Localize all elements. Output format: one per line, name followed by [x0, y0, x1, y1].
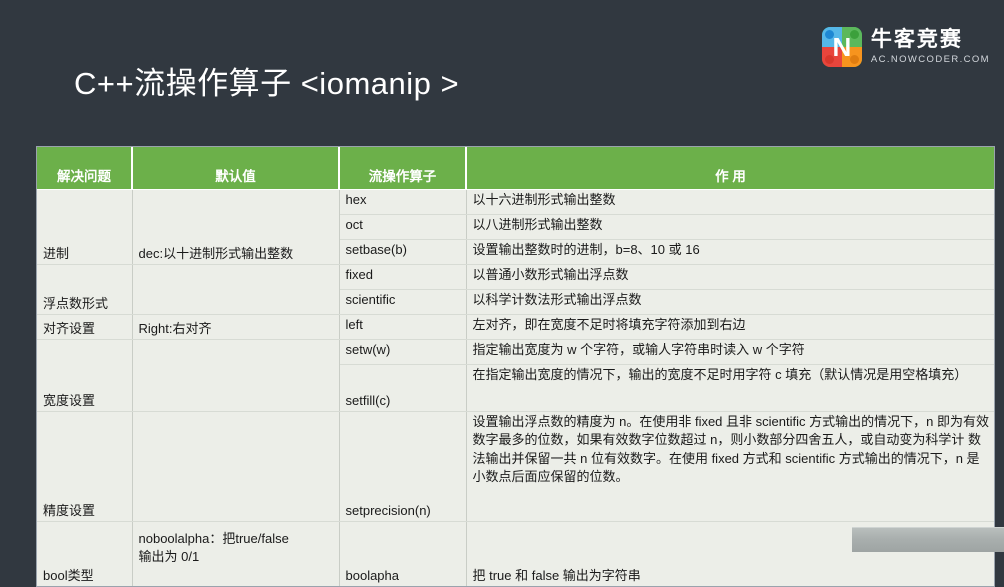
cell-problem: 对齐设置	[37, 315, 132, 340]
brand-url: AC.NOWCODER.COM	[871, 54, 990, 65]
manipulator-table: 解决问题 默认值 流操作算子 作 用 进制 dec:以十进制形式输出整数 hex…	[37, 147, 994, 586]
cell-operator: setw(w)	[339, 340, 466, 365]
cell-effect: 左对齐，即在宽度不足时将填充字符添加到右边	[466, 315, 994, 340]
table-row: 对齐设置 Right:右对齐 left 左对齐，即在宽度不足时将填充字符添加到右…	[37, 315, 994, 340]
page-title: C++流操作算子 <iomanip >	[74, 58, 459, 103]
cell-default	[132, 412, 339, 522]
cell-operator: hex	[339, 190, 466, 215]
brand-name: 牛客竞赛	[871, 29, 990, 51]
cell-default	[132, 340, 339, 412]
cell-operator: fixed	[339, 265, 466, 290]
table-header-row: 解决问题 默认值 流操作算子 作 用	[37, 147, 994, 190]
table-row: 浮点数形式 fixed 以普通小数形式输出浮点数	[37, 265, 994, 290]
table-row: 精度设置 setprecision(n) 设置输出浮点数的精度为 n。在使用非 …	[37, 412, 994, 522]
brand-logo: N 牛客竞赛 AC.NOWCODER.COM	[822, 27, 990, 67]
cell-operator: boolapha	[339, 522, 466, 587]
cell-effect: 设置输出浮点数的精度为 n。在使用非 fixed 且非 scientific 方…	[466, 412, 994, 522]
cell-operator: scientific	[339, 290, 466, 315]
cell-effect: 以十六进制形式输出整数	[466, 190, 994, 215]
column-header-problem: 解决问题	[37, 147, 132, 190]
cell-problem: 浮点数形式	[37, 265, 132, 315]
cell-default: dec:以十进制形式输出整数	[132, 190, 339, 265]
cell-problem: 精度设置	[37, 412, 132, 522]
table-row: 宽度设置 setw(w) 指定输出宽度为 w 个字符，或输人字符串时读入 w 个…	[37, 340, 994, 365]
nowcoder-logo-icon: N	[822, 27, 862, 67]
cell-effect: 以普通小数形式输出浮点数	[466, 265, 994, 290]
table-row: bool类型 noboolalpha：把true/false 输出为 0/1 b…	[37, 522, 994, 587]
overlay-panel	[852, 527, 1004, 552]
cell-default: Right:右对齐	[132, 315, 339, 340]
cell-effect: 设置输出整数时的进制，b=8、10 或 16	[466, 240, 994, 265]
cell-effect: 以八进制形式输出整数	[466, 215, 994, 240]
cell-operator: setfill(c)	[339, 365, 466, 412]
column-header-operator: 流操作算子	[339, 147, 466, 190]
cell-operator: oct	[339, 215, 466, 240]
cell-default	[132, 265, 339, 315]
cell-effect: 在指定输出宽度的情况下，输出的宽度不足时用字符 c 填充（默认情况是用空格填充）	[466, 365, 994, 412]
column-header-default: 默认值	[132, 147, 339, 190]
cell-operator: setbase(b)	[339, 240, 466, 265]
cell-operator: left	[339, 315, 466, 340]
iomanip-table: 解决问题 默认值 流操作算子 作 用 进制 dec:以十进制形式输出整数 hex…	[36, 146, 995, 587]
table-row: 进制 dec:以十进制形式输出整数 hex 以十六进制形式输出整数	[37, 190, 994, 215]
cell-problem: 宽度设置	[37, 340, 132, 412]
cell-operator: setprecision(n)	[339, 412, 466, 522]
cell-default: noboolalpha：把true/false 输出为 0/1	[132, 522, 339, 587]
column-header-effect: 作 用	[466, 147, 994, 190]
cell-effect: 指定输出宽度为 w 个字符，或输人字符串时读入 w 个字符	[466, 340, 994, 365]
cell-effect: 以科学计数法形式输出浮点数	[466, 290, 994, 315]
cell-problem: 进制	[37, 190, 132, 265]
logo-letter: N	[822, 27, 862, 67]
cell-problem: bool类型	[37, 522, 132, 587]
